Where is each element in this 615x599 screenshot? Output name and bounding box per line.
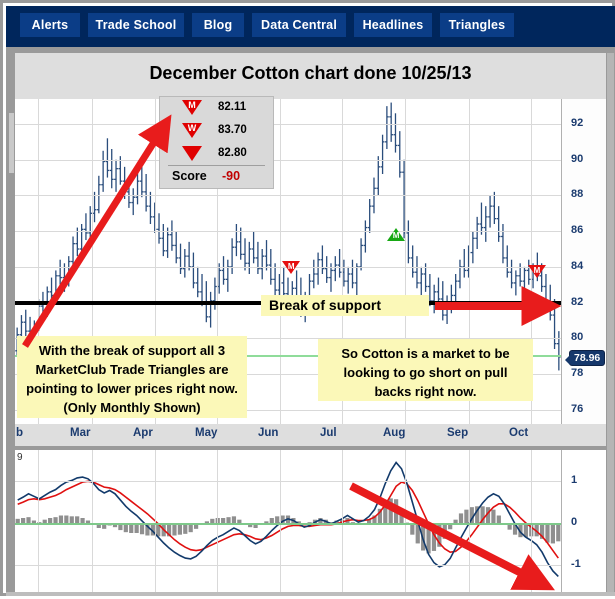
page-title: December Cotton chart done 10/25/13	[6, 63, 615, 84]
nav-item-blog[interactable]: Blog	[192, 13, 244, 37]
nav-item-trade-school[interactable]: Trade School	[88, 13, 184, 37]
annotation-break-of-support: Break of support	[261, 295, 429, 316]
month-tick-label: Oct	[509, 427, 528, 439]
score-label: Score	[172, 169, 207, 183]
trade-triangle-score-box: M 82.11 W 83.70 82.80 Score -90	[159, 96, 274, 189]
left-scrollbar-thumb[interactable]	[9, 113, 14, 173]
top-navigation-bar: Alerts Trade School Blog Data Central He…	[6, 6, 615, 47]
price-tick-label: 88	[571, 188, 583, 200]
macd-gridline	[15, 565, 561, 566]
price-tick-label: 92	[571, 117, 583, 129]
month-tick-label: Jul	[320, 427, 337, 439]
price-tick-label: 76	[571, 403, 583, 415]
annotation-right-line-2: looking to go short on pull	[318, 363, 533, 382]
chart-title-bar: December Cotton chart done 10/25/13	[6, 53, 615, 99]
price-gridline	[15, 231, 561, 232]
month-tick-label: Mar	[70, 427, 90, 439]
macd-axis-line	[561, 450, 562, 596]
nav-item-headlines[interactable]: Headlines	[354, 13, 432, 37]
macd-zero-line	[15, 523, 561, 525]
triangle-period-letter: M	[282, 262, 300, 272]
month-tick-label: Apr	[133, 427, 153, 439]
score-row-monthly: M 82.11	[160, 97, 273, 120]
right-scrollbar-thumb[interactable]	[607, 53, 614, 596]
triangle-period-letter: W	[182, 123, 202, 134]
triangle-period-letter: M	[528, 266, 546, 276]
macd-panel[interactable]: 9 10-1	[15, 450, 606, 596]
macd-gridline	[15, 481, 561, 482]
month-tick-label: Aug	[383, 427, 405, 439]
annotation-right-line-3: backs right now.	[318, 382, 533, 401]
macd-tick-label: 1	[571, 474, 577, 486]
red-down-triangle-icon	[182, 146, 202, 161]
price-tick-label: 82	[571, 296, 583, 308]
left-scrollbar[interactable]	[6, 53, 15, 596]
annotation-left-line-4: (Only Monthly Shown)	[17, 398, 247, 417]
month-tick-label: Sep	[447, 427, 468, 439]
macd-tick-label: -1	[571, 558, 581, 570]
right-scrollbar[interactable]	[606, 53, 615, 596]
score-value: -90	[222, 169, 240, 183]
annotation-left-line-3: pointing to lower prices right now.	[17, 379, 247, 398]
price-gridline	[15, 124, 561, 125]
month-tick-label: Jun	[258, 427, 278, 439]
weekly-signal-price: 83.70	[218, 124, 268, 136]
score-row-weekly: W 83.70	[160, 120, 273, 143]
price-axis-line	[561, 99, 562, 424]
marketclub-chart-window: Alerts Trade School Blog Data Central He…	[0, 0, 615, 596]
price-tick-label: 90	[571, 153, 583, 165]
last-price-tag: 78.96	[569, 350, 605, 366]
nav-item-alerts[interactable]: Alerts	[20, 13, 80, 37]
price-gridline-vertical	[280, 99, 281, 424]
score-divider	[168, 165, 265, 166]
annotation-right-line-1: So Cotton is a market to be	[318, 344, 533, 363]
month-tick-label: May	[195, 427, 217, 439]
annotation-left-note: With the break of support all 3 MarketCl…	[17, 336, 247, 418]
daily-signal-price: 82.80	[218, 147, 268, 159]
annotation-right-note: So Cotton is a market to be looking to g…	[318, 339, 533, 401]
monthly-signal-price: 82.11	[218, 101, 268, 113]
score-row-daily: 82.80	[160, 143, 273, 166]
price-tick-label: 80	[571, 331, 583, 343]
annotation-left-line-2: MarketClub Trade Triangles are	[17, 360, 247, 379]
price-tick-label: 84	[571, 260, 583, 272]
triangle-period-letter: M	[387, 231, 405, 241]
annotation-left-line-1: With the break of support all 3	[17, 341, 247, 360]
month-axis-bar: bMarAprMayJunJulAugSepOct	[15, 424, 606, 446]
nav-item-data-central[interactable]: Data Central	[252, 13, 346, 37]
nav-item-triangles[interactable]: Triangles	[440, 13, 514, 37]
price-tick-label: 86	[571, 224, 583, 236]
price-gridline	[15, 160, 561, 161]
price-tick-label: 78	[571, 367, 583, 379]
price-gridline	[15, 195, 561, 196]
month-tick-label: b	[16, 427, 23, 439]
bottom-strip	[6, 592, 615, 596]
triangle-period-letter: M	[182, 100, 202, 111]
macd-tick-label: 0	[571, 516, 577, 528]
